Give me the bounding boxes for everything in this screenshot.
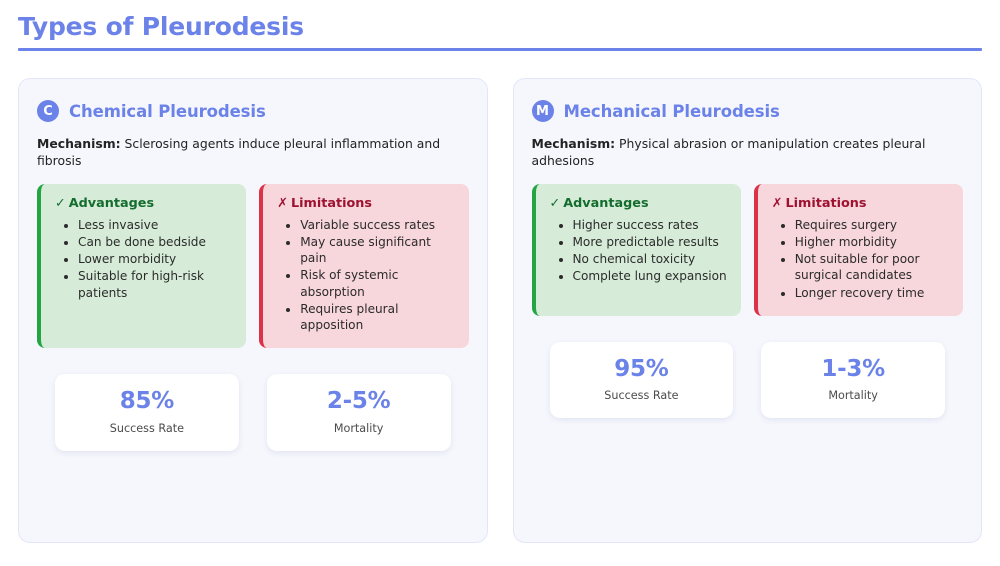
limitations-title: ✗Limitations xyxy=(277,196,458,211)
advantages-panel: ✓Advantages Higher success rates More pr… xyxy=(532,184,741,315)
check-icon: ✓ xyxy=(55,196,66,211)
list-item: Risk of systemic absorption xyxy=(300,267,458,299)
advantages-title-text: Advantages xyxy=(563,196,648,211)
card-mechanical-pleurodesis: M Mechanical Pleurodesis Mechanism: Phys… xyxy=(513,78,983,543)
list-item: Requires surgery xyxy=(795,217,953,233)
limitations-list: Requires surgery Higher morbidity Not su… xyxy=(770,217,953,300)
stat-label: Mortality xyxy=(767,389,939,402)
list-item: Complete lung expansion xyxy=(573,268,731,284)
advantages-list: Less invasive Can be done bedside Lower … xyxy=(53,217,236,300)
limitations-title: ✗Limitations xyxy=(772,196,953,211)
card-header: C Chemical Pleurodesis xyxy=(37,100,469,122)
stat-success-rate: 85% Success Rate xyxy=(55,374,239,451)
list-item: Less invasive xyxy=(78,217,236,233)
stat-value: 95% xyxy=(556,357,728,383)
list-item: Requires pleural apposition xyxy=(300,301,458,333)
advantages-title: ✓Advantages xyxy=(550,196,731,211)
stat-group: 95% Success Rate 1-3% Mortality xyxy=(532,342,964,419)
mechanism-label: Mechanism: xyxy=(532,136,616,151)
list-item: Higher morbidity xyxy=(795,234,953,250)
list-item: Higher success rates xyxy=(573,217,731,233)
list-item: May cause significant pain xyxy=(300,234,458,266)
advantages-title-text: Advantages xyxy=(69,196,154,211)
list-item: Lower morbidity xyxy=(78,251,236,267)
list-item: Can be done bedside xyxy=(78,234,236,250)
cross-icon: ✗ xyxy=(772,196,783,211)
list-item: Variable success rates xyxy=(300,217,458,233)
stat-mortality: 1-3% Mortality xyxy=(761,342,945,419)
stat-value: 85% xyxy=(61,389,233,415)
stat-mortality: 2-5% Mortality xyxy=(267,374,451,451)
limitations-panel: ✗Limitations Variable success rates May … xyxy=(259,184,468,348)
pros-cons-panels: ✓Advantages Higher success rates More pr… xyxy=(532,184,964,315)
card-title: Mechanical Pleurodesis xyxy=(564,102,780,121)
cross-icon: ✗ xyxy=(277,196,288,211)
list-item: More predictable results xyxy=(573,234,731,250)
stat-value: 2-5% xyxy=(273,389,445,415)
list-item: Longer recovery time xyxy=(795,285,953,301)
pros-cons-panels: ✓Advantages Less invasive Can be done be… xyxy=(37,184,469,348)
stat-label: Success Rate xyxy=(556,389,728,402)
card-chemical-pleurodesis: C Chemical Pleurodesis Mechanism: Sclero… xyxy=(18,78,488,543)
mechanism-label: Mechanism: xyxy=(37,136,121,151)
stat-label: Success Rate xyxy=(61,422,233,435)
list-item: Suitable for high-risk patients xyxy=(78,268,236,300)
title-divider xyxy=(18,48,982,51)
check-icon: ✓ xyxy=(550,196,561,211)
pleurodesis-card-grid: C Chemical Pleurodesis Mechanism: Sclero… xyxy=(18,78,982,543)
stat-label: Mortality xyxy=(273,422,445,435)
card-badge-icon: C xyxy=(37,100,59,122)
limitations-list: Variable success rates May cause signifi… xyxy=(275,217,458,333)
page-title: Types of Pleurodesis xyxy=(18,12,304,41)
limitations-panel: ✗Limitations Requires surgery Higher mor… xyxy=(754,184,963,315)
advantages-title: ✓Advantages xyxy=(55,196,236,211)
card-title: Chemical Pleurodesis xyxy=(69,102,266,121)
advantages-list: Higher success rates More predictable re… xyxy=(548,217,731,284)
card-badge-icon: M xyxy=(532,100,554,122)
limitations-title-text: Limitations xyxy=(785,196,866,211)
card-header: M Mechanical Pleurodesis xyxy=(532,100,964,122)
stat-group: 85% Success Rate 2-5% Mortality xyxy=(37,374,469,451)
stat-value: 1-3% xyxy=(767,357,939,383)
advantages-panel: ✓Advantages Less invasive Can be done be… xyxy=(37,184,246,348)
limitations-title-text: Limitations xyxy=(291,196,372,211)
mechanism-text: Mechanism: Sclerosing agents induce pleu… xyxy=(37,135,457,169)
mechanism-text: Mechanism: Physical abrasion or manipula… xyxy=(532,135,952,169)
list-item: Not suitable for poor surgical candidate… xyxy=(795,251,953,283)
page-root: Types of Pleurodesis C Chemical Pleurode… xyxy=(0,0,1000,566)
list-item: No chemical toxicity xyxy=(573,251,731,267)
stat-success-rate: 95% Success Rate xyxy=(550,342,734,419)
